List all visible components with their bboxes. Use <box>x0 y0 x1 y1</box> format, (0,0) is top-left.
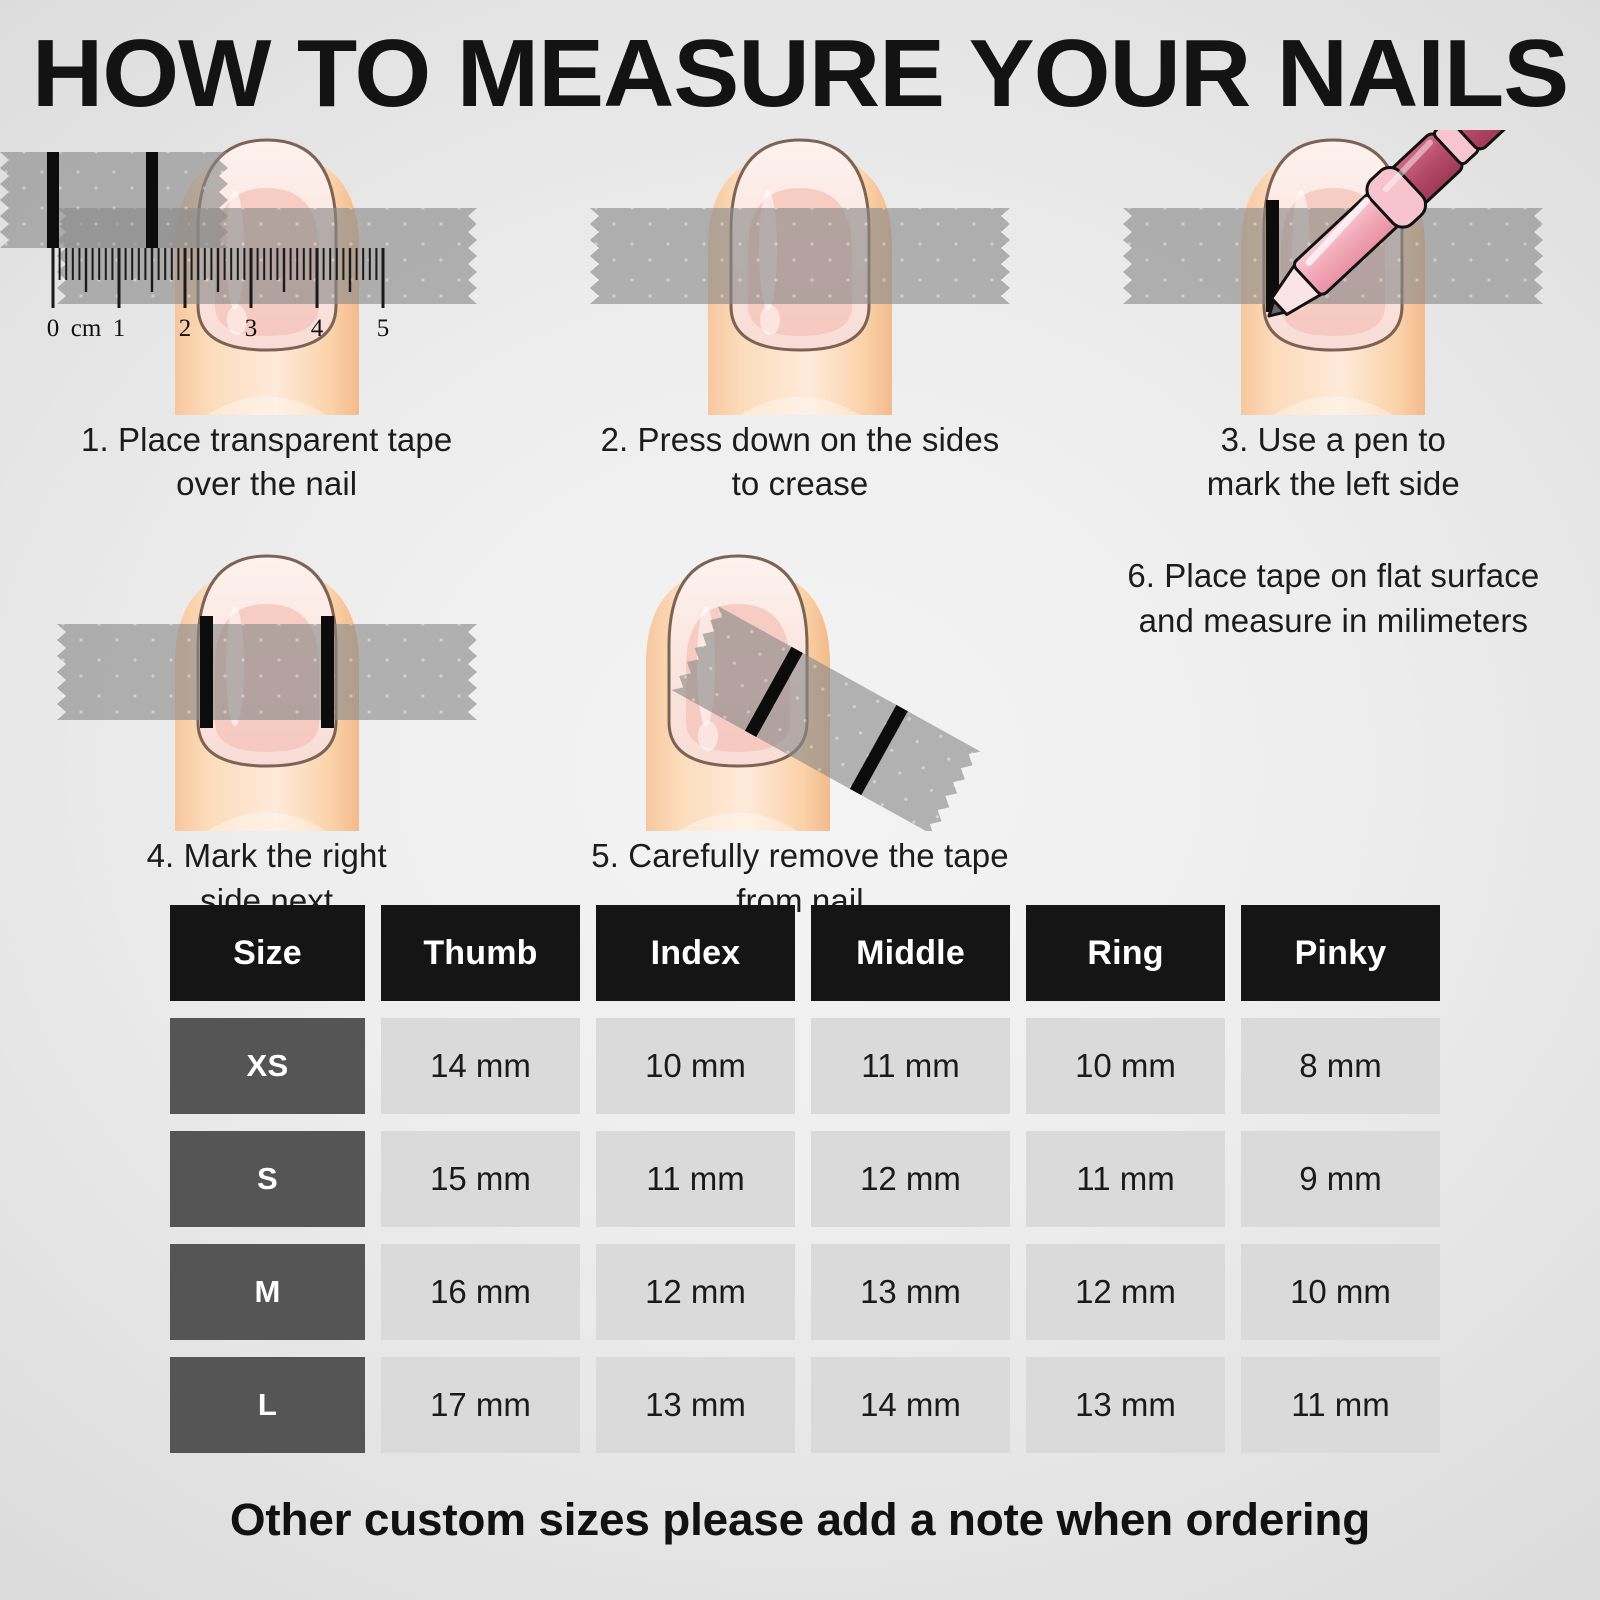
left-mark <box>200 616 213 728</box>
step-2-caption: 2. Press down on the sidesto crease <box>565 418 1035 506</box>
table-cell: 13 mm <box>811 1244 1010 1340</box>
step-4: 4. Mark the rightside next <box>0 546 533 922</box>
ruler <box>53 248 383 308</box>
step-1-caption: 1. Place transparent tapeover the nail <box>32 418 502 506</box>
footer-note: Other custom sizes please add a note whe… <box>0 1494 1600 1546</box>
step-4-figure <box>57 546 477 826</box>
table-cell: 10 mm <box>596 1018 795 1114</box>
table-header-row: Size Thumb Index Middle Ring Pinky <box>170 905 1440 1001</box>
svg-text:2: 2 <box>179 315 192 342</box>
page-title: HOW TO MEASURE YOUR NAILS <box>0 26 1600 122</box>
right-mark <box>321 616 334 728</box>
size-label: L <box>170 1357 365 1453</box>
step-6: 0 cm 1 2 3 4 5 6. Place tape on flat sur… <box>1067 546 1600 922</box>
mark-a <box>47 152 59 248</box>
table-cell: 17 mm <box>381 1357 580 1453</box>
table-cell: 15 mm <box>381 1131 580 1227</box>
table-row: S 15 mm 11 mm 12 mm 11 mm 9 mm <box>170 1131 1440 1227</box>
tape-strip <box>0 152 228 248</box>
svg-text:1: 1 <box>113 315 126 342</box>
table-cell: 13 mm <box>1026 1357 1225 1453</box>
step-3: 3. Use a pen tomark the left side <box>1067 130 1600 506</box>
table-cell: 12 mm <box>811 1131 1010 1227</box>
step-6-caption: 6. Place tape on flat surfaceand measure… <box>1098 554 1568 642</box>
table-header-middle: Middle <box>811 905 1010 1001</box>
size-label: M <box>170 1244 365 1340</box>
tape-on-ruler-icon: 0 cm 1 2 3 4 5 <box>0 130 420 415</box>
table-cell: 13 mm <box>596 1357 795 1453</box>
size-label: S <box>170 1131 365 1227</box>
table-row: XS 14 mm 10 mm 11 mm 10 mm 8 mm <box>170 1018 1440 1114</box>
svg-text:4: 4 <box>311 315 324 342</box>
table-cell: 12 mm <box>596 1244 795 1340</box>
tape-with-two-marks-icon <box>57 546 477 831</box>
table-cell: 11 mm <box>596 1131 795 1227</box>
table-cell: 11 mm <box>811 1018 1010 1114</box>
tape-peeled-off-icon <box>590 546 1010 831</box>
svg-text:3: 3 <box>245 315 258 342</box>
tape-strip <box>57 624 477 720</box>
step-3-figure <box>1123 130 1543 410</box>
table-header-pinky: Pinky <box>1241 905 1440 1001</box>
table-cell: 9 mm <box>1241 1131 1440 1227</box>
svg-text:0: 0 <box>47 315 60 342</box>
steps-row-bottom: 4. Mark the rightside next <box>0 546 1600 922</box>
infographic-page: HOW TO MEASURE YOUR NAILS <box>0 0 1600 1600</box>
table-cell: 8 mm <box>1241 1018 1440 1114</box>
table-header-size: Size <box>170 905 365 1001</box>
size-table: Size Thumb Index Middle Ring Pinky XS 14… <box>170 905 1440 1470</box>
table-cell: 14 mm <box>811 1357 1010 1453</box>
svg-text:5: 5 <box>377 315 390 342</box>
table-cell: 14 mm <box>381 1018 580 1114</box>
step-6-figure: 0 cm 1 2 3 4 5 <box>0 130 420 410</box>
table-header-ring: Ring <box>1026 905 1225 1001</box>
pen-marking-left-icon <box>1123 130 1543 415</box>
step-3-caption: 3. Use a pen tomark the left side <box>1098 418 1568 506</box>
table-header-index: Index <box>596 905 795 1001</box>
size-label: XS <box>170 1018 365 1114</box>
table-row: M 16 mm 12 mm 13 mm 12 mm 10 mm <box>170 1244 1440 1340</box>
step-2: 2. Press down on the sidesto crease <box>533 130 1066 506</box>
step-5: 5. Carefully remove the tapefrom nail <box>533 546 1066 922</box>
table-cell: 10 mm <box>1241 1244 1440 1340</box>
step-5-figure <box>590 546 1010 826</box>
table-cell: 16 mm <box>381 1244 580 1340</box>
tape-strip <box>590 208 1010 304</box>
table-cell: 11 mm <box>1026 1131 1225 1227</box>
svg-text:cm: cm <box>71 315 102 342</box>
ruler-labels: 0 cm 1 2 3 4 5 <box>47 315 390 342</box>
table-header-thumb: Thumb <box>381 905 580 1001</box>
steps-container: 1. Place transparent tapeover the nail <box>0 130 1600 923</box>
step-2-figure <box>590 130 1010 410</box>
table-cell: 11 mm <box>1241 1357 1440 1453</box>
table-cell: 12 mm <box>1026 1244 1225 1340</box>
table-cell: 10 mm <box>1026 1018 1225 1114</box>
finger-with-creased-tape-icon <box>590 130 1010 415</box>
mark-b <box>146 152 158 248</box>
table-row: L 17 mm 13 mm 14 mm 13 mm 11 mm <box>170 1357 1440 1453</box>
